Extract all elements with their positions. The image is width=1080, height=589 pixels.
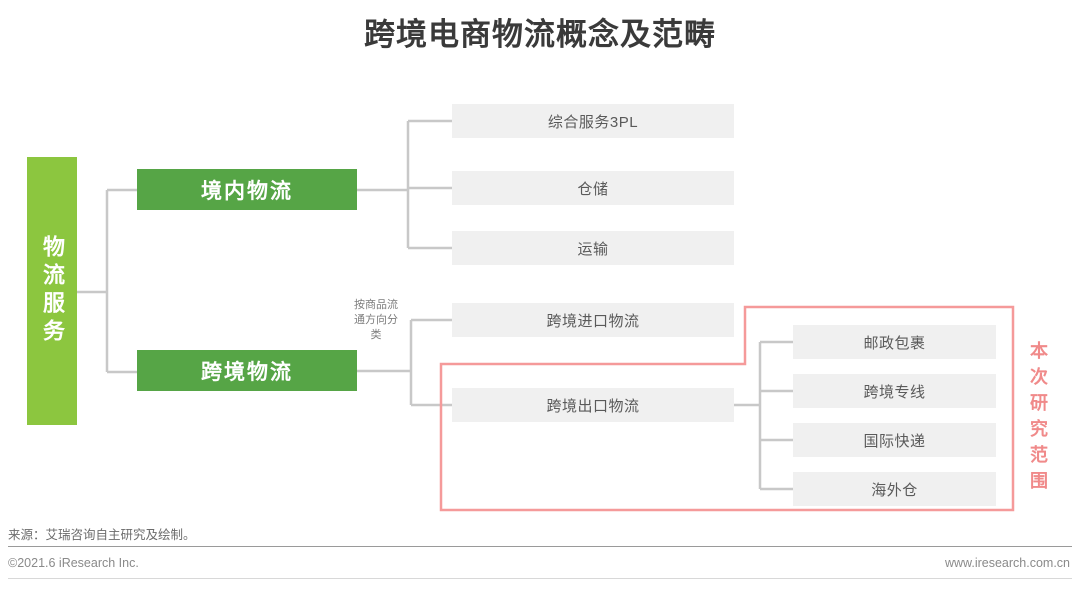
study-scope-label-char-3: 研	[1026, 390, 1052, 416]
page-title: 跨境电商物流概念及范畴	[0, 14, 1080, 56]
node-postal-parcel[interactable]: 邮政包裹	[793, 325, 996, 359]
node-warehousing[interactable]: 仓储	[452, 171, 734, 205]
copyright-text: ©2021.6 iResearch Inc.	[8, 556, 139, 570]
node-3pl-service-label: 综合服务3PL	[548, 111, 638, 132]
slide-canvas: 跨境电商物流概念及范畴	[0, 0, 1080, 589]
study-scope-label-char-4: 究	[1026, 416, 1052, 442]
node-dedicated-line-label: 跨境专线	[863, 381, 925, 402]
node-cross-border-import-label: 跨境进口物流	[546, 310, 639, 331]
node-transport[interactable]: 运输	[452, 231, 734, 265]
node-domestic-logistics[interactable]: 境内物流	[137, 169, 357, 210]
website-text: www.iresearch.com.cn	[945, 556, 1070, 570]
branch-note-line-3: 类	[345, 328, 407, 343]
node-cross-border-export[interactable]: 跨境出口物流	[452, 388, 734, 422]
study-scope-label-char-2: 次	[1026, 364, 1052, 390]
footer-divider-top	[8, 546, 1072, 547]
study-scope-label-char-6: 围	[1026, 468, 1052, 494]
study-scope-label: 本 次 研 究 范 围	[1026, 338, 1052, 494]
node-international-express[interactable]: 国际快递	[793, 423, 996, 457]
node-cross-border-logistics-label: 跨境物流	[201, 356, 293, 386]
root-node-logistics-service[interactable]: 物流服务	[27, 157, 77, 425]
node-transport-label: 运输	[577, 238, 608, 259]
source-note: 来源：艾瑞咨询自主研究及绘制。	[8, 524, 196, 543]
root-node-label: 物流服务	[41, 235, 63, 347]
footer-divider-bottom	[8, 578, 1072, 579]
node-overseas-warehouse[interactable]: 海外仓	[793, 472, 996, 506]
node-dedicated-line[interactable]: 跨境专线	[793, 374, 996, 408]
node-domestic-logistics-label: 境内物流	[201, 175, 293, 205]
node-postal-parcel-label: 邮政包裹	[863, 332, 925, 353]
branch-note-line-2: 通方向分	[345, 313, 407, 328]
node-international-express-label: 国际快递	[863, 430, 925, 451]
branch-note-line-1: 按商品流	[345, 298, 407, 313]
node-overseas-warehouse-label: 海外仓	[871, 479, 918, 500]
node-3pl-service[interactable]: 综合服务3PL	[452, 104, 734, 138]
study-scope-label-char-5: 范	[1026, 442, 1052, 468]
node-cross-border-import[interactable]: 跨境进口物流	[452, 303, 734, 337]
branch-note: 按商品流 通方向分 类	[345, 298, 407, 343]
node-cross-border-logistics[interactable]: 跨境物流	[137, 350, 357, 391]
study-scope-label-char-1: 本	[1026, 338, 1052, 364]
node-warehousing-label: 仓储	[577, 178, 608, 199]
node-cross-border-export-label: 跨境出口物流	[546, 395, 639, 416]
